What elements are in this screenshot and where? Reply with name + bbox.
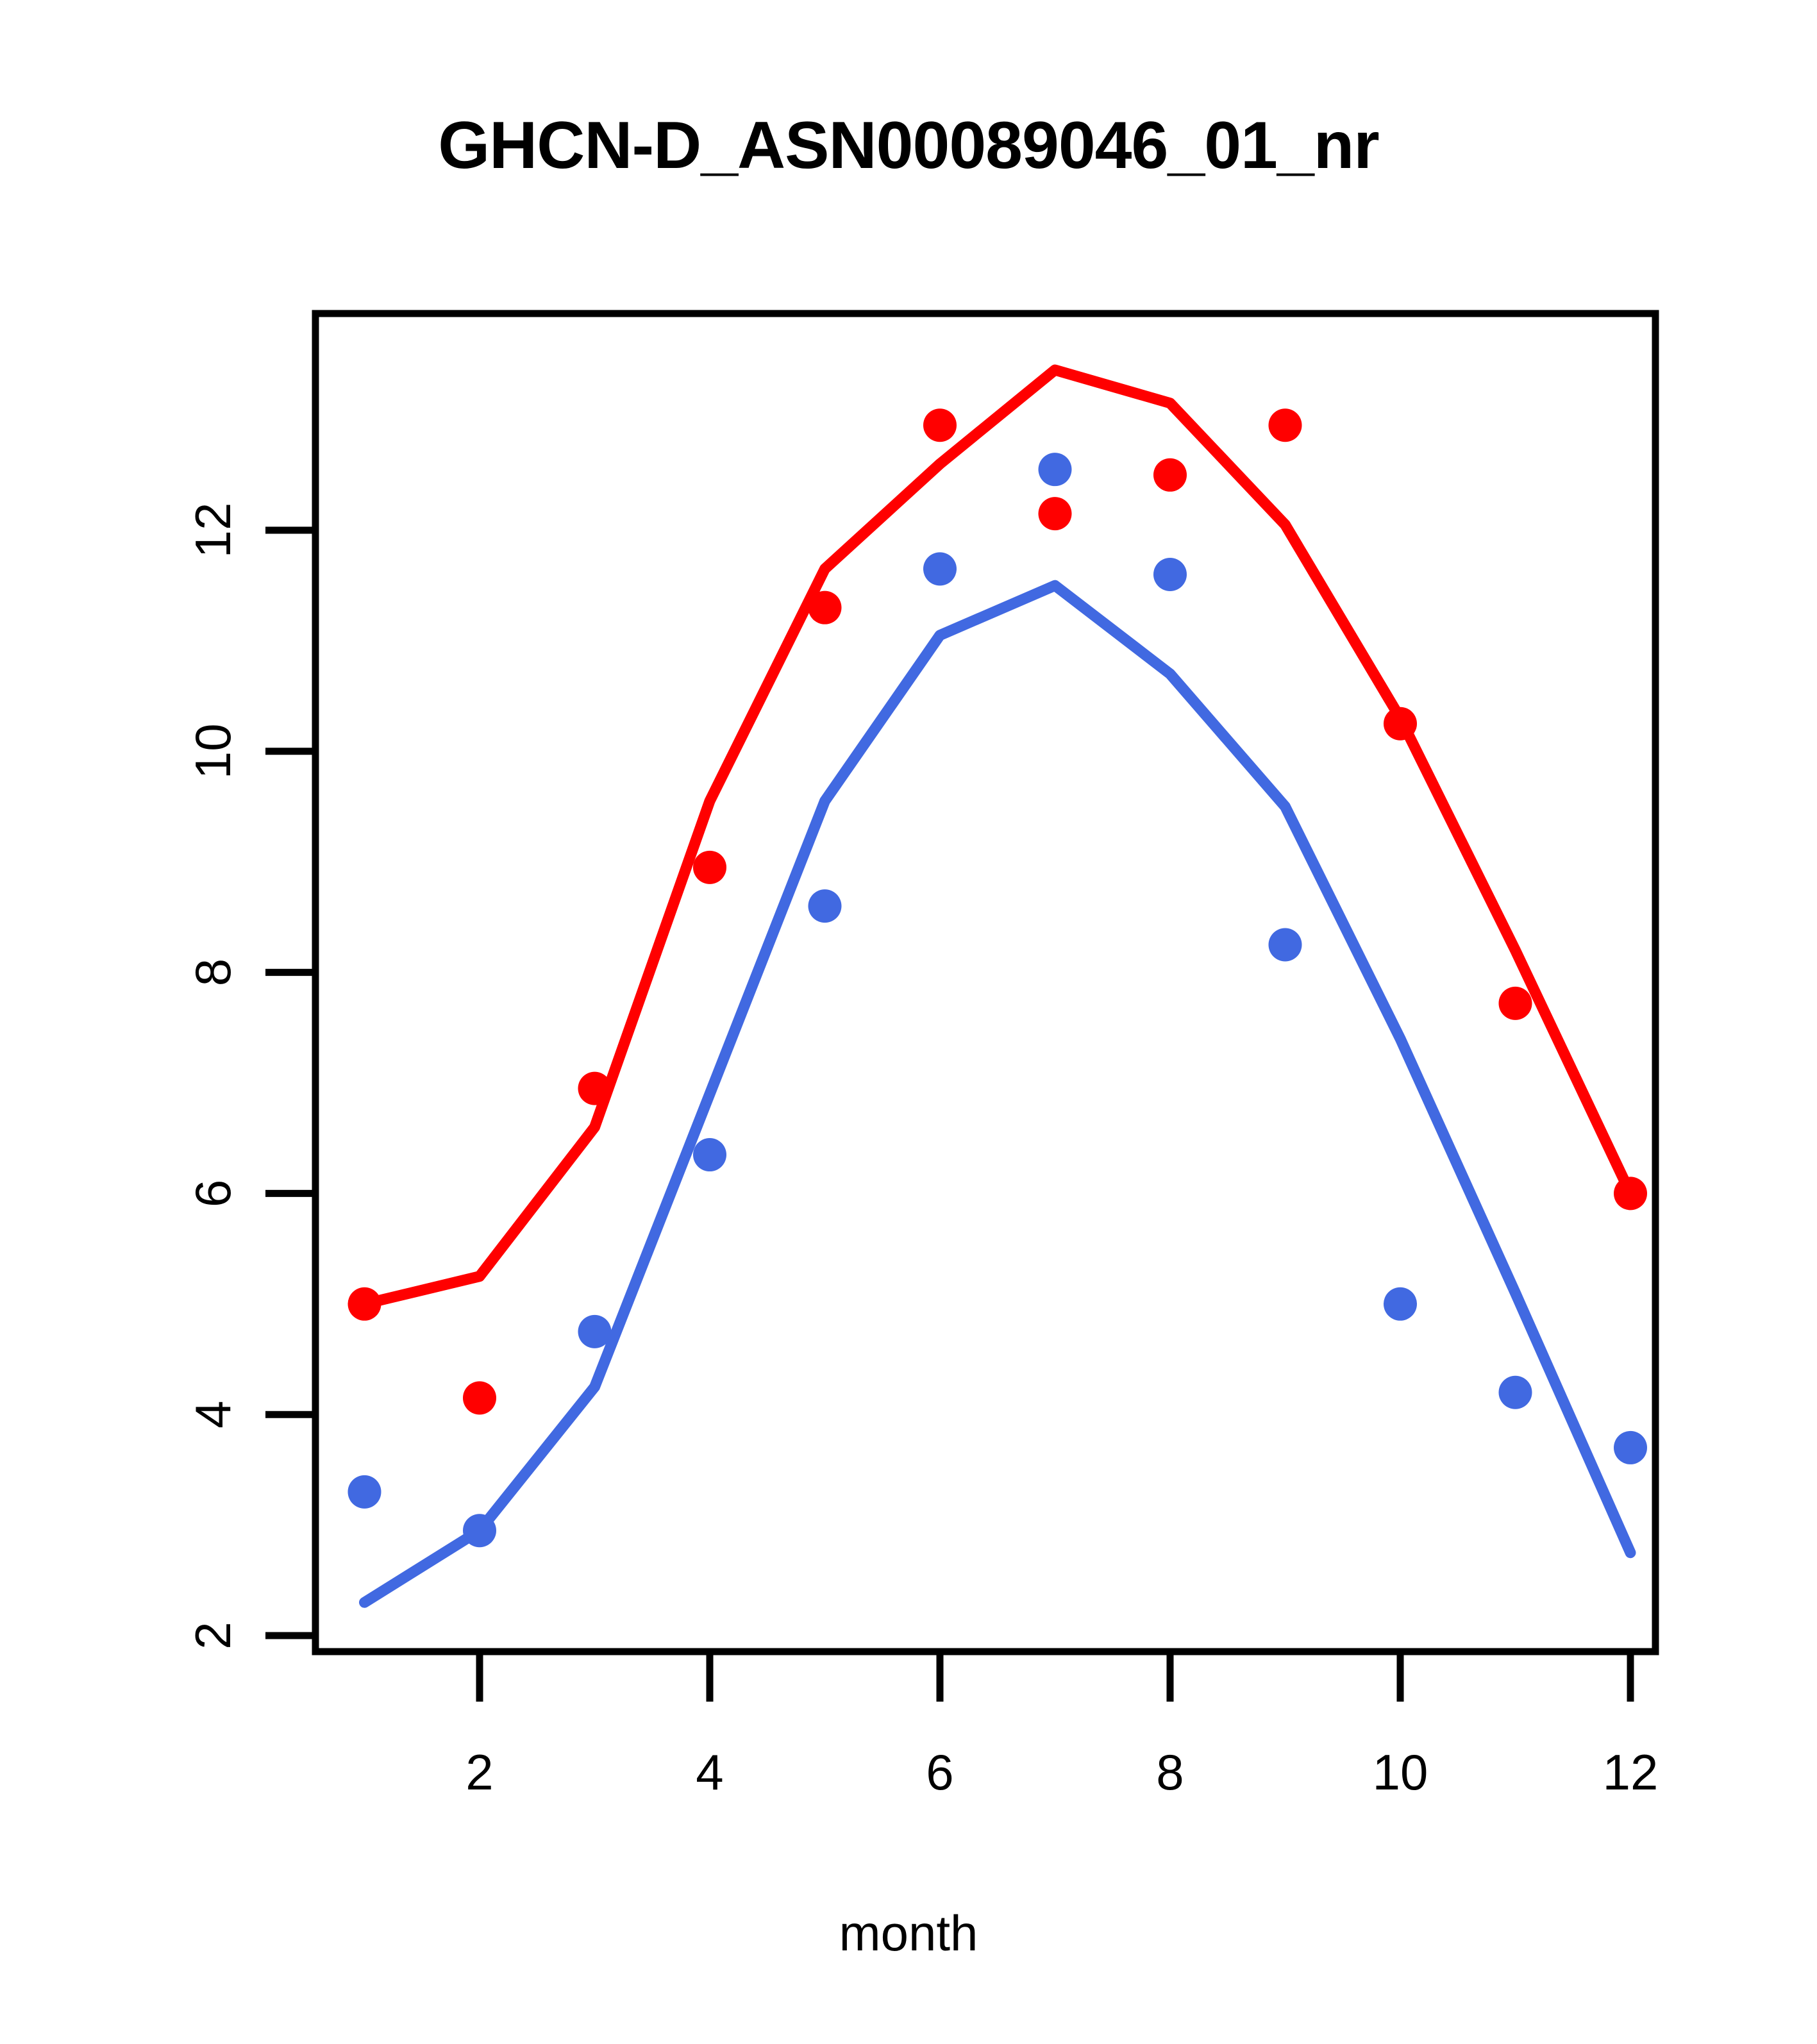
x-axis-label: month <box>0 1904 1817 1963</box>
axes-layer <box>265 314 1655 1702</box>
data-point <box>1499 987 1532 1020</box>
data-point <box>1039 453 1072 486</box>
x-tick-label: 2 <box>465 1744 493 1800</box>
data-point <box>348 1287 381 1321</box>
data-point <box>1153 458 1187 492</box>
data-point <box>348 1475 381 1509</box>
data-point <box>808 889 842 923</box>
x-tick-label: 8 <box>1156 1744 1184 1800</box>
data-point <box>1614 1177 1647 1210</box>
data-point <box>1153 558 1187 591</box>
data-layer <box>348 370 1648 1602</box>
x-tick-label: 10 <box>1373 1744 1428 1800</box>
y-tick-label: 4 <box>185 1401 241 1428</box>
blue-line <box>365 585 1631 1602</box>
data-point <box>923 552 957 585</box>
data-point <box>463 1381 496 1414</box>
data-point <box>1614 1431 1647 1464</box>
y-tick-label: 8 <box>185 959 241 986</box>
data-point <box>808 591 842 624</box>
data-point <box>1039 497 1072 530</box>
data-point <box>923 408 957 442</box>
blue-points <box>348 453 1648 1547</box>
data-point <box>1269 928 1302 962</box>
y-tick-label: 2 <box>185 1621 241 1649</box>
data-point <box>693 1138 726 1171</box>
y-tick-label: 12 <box>185 503 241 558</box>
y-tick-label: 6 <box>185 1180 241 1207</box>
data-point <box>1384 1287 1417 1321</box>
data-point <box>1269 408 1302 442</box>
data-point <box>693 851 726 884</box>
data-point <box>1384 707 1417 741</box>
data-point <box>578 1315 612 1348</box>
plot-box <box>315 314 1655 1652</box>
chart-figure: GHCN-D_ASN00089046_01_nr 246810122468101… <box>0 0 1817 2044</box>
x-tick-label: 12 <box>1603 1744 1659 1800</box>
plot-area: 2468101224681012 <box>0 0 1817 2044</box>
axis-tick-labels: 2468101224681012 <box>185 503 1658 1800</box>
y-tick-label: 10 <box>185 723 241 779</box>
x-tick-label: 4 <box>696 1744 723 1800</box>
red-points <box>348 408 1648 1414</box>
data-point <box>1499 1376 1532 1409</box>
data-point <box>463 1514 496 1547</box>
data-point <box>578 1072 612 1105</box>
x-tick-label: 6 <box>926 1744 953 1800</box>
red-line <box>365 370 1631 1304</box>
